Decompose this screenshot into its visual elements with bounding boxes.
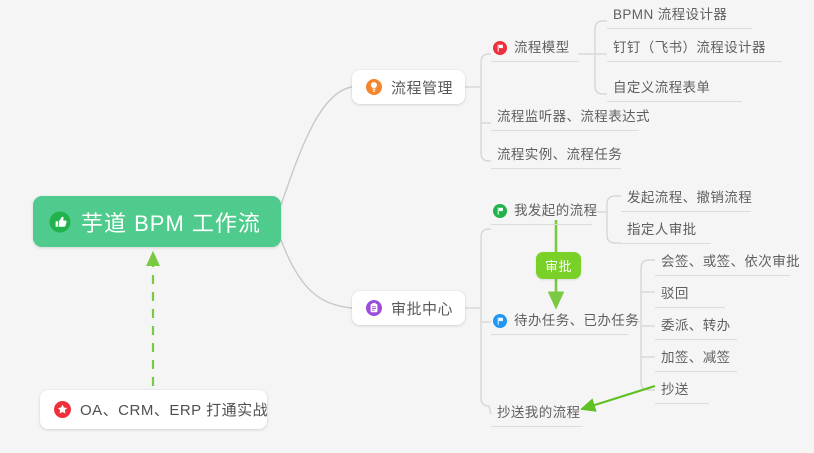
- node-my-initiated[interactable]: 我发起的流程: [491, 199, 592, 225]
- flag-green-icon: [493, 204, 507, 219]
- node-label: 抄送: [661, 378, 689, 398]
- root-node[interactable]: 芋道 BPM 工作流: [33, 196, 281, 247]
- node-process-instance[interactable]: 流程实例、流程任务: [491, 143, 621, 169]
- bottom-note-label: OA、CRM、ERP 打通实战: [80, 399, 268, 420]
- node-label: 驳回: [661, 282, 689, 302]
- mindmap-canvas: 芋道 BPM 工作流 流程管理 流程模型 BPMN 流程设计器 钉钉（飞书）流程: [0, 0, 814, 453]
- node-label: 自定义流程表单: [613, 76, 710, 96]
- node-label: 钉钉（飞书）流程设计器: [613, 36, 766, 56]
- node-label: 指定人审批: [627, 218, 697, 238]
- branch-label: 审批中心: [391, 298, 453, 319]
- bottom-note-card[interactable]: OA、CRM、ERP 打通实战: [40, 390, 267, 429]
- node-label: 我发起的流程: [514, 199, 597, 219]
- node-dingtalk-designer[interactable]: 钉钉（飞书）流程设计器: [607, 36, 782, 62]
- branch-node-process-management[interactable]: 流程管理: [352, 70, 465, 104]
- flag-blue-icon: [493, 314, 507, 329]
- node-label: 待办任务、已办任务: [514, 309, 639, 329]
- node-label: 抄送我的流程: [497, 401, 580, 421]
- node-process-model[interactable]: 流程模型: [491, 36, 579, 62]
- node-label: BPMN 流程设计器: [613, 3, 727, 23]
- node-add-remove-sign[interactable]: 加签、减签: [655, 346, 737, 372]
- node-label: 流程实例、流程任务: [497, 143, 622, 163]
- chip-label: 审批: [545, 259, 572, 274]
- star-icon: [54, 401, 71, 418]
- node-todo-done-tasks[interactable]: 待办任务、已办任务: [491, 309, 628, 335]
- node-start-cancel-process[interactable]: 发起流程、撤销流程: [621, 186, 751, 212]
- clipboard-icon: [366, 300, 382, 316]
- node-label: 委派、转办: [661, 314, 731, 334]
- node-custom-form[interactable]: 自定义流程表单: [607, 76, 742, 102]
- node-label: 流程监听器、流程表达式: [497, 105, 650, 125]
- node-label: 会签、或签、依次审批: [661, 250, 800, 270]
- lightbulb-icon: [366, 79, 382, 95]
- branch-node-approval-center[interactable]: 审批中心: [352, 291, 465, 325]
- root-label: 芋道 BPM 工作流: [81, 206, 261, 238]
- node-cc-to-me[interactable]: 抄送我的流程: [491, 401, 583, 427]
- node-cc[interactable]: 抄送: [655, 378, 709, 404]
- annotation-chip-approval[interactable]: 审批: [536, 252, 581, 279]
- node-delegate-transfer[interactable]: 委派、转办: [655, 314, 737, 340]
- node-bpmn-designer[interactable]: BPMN 流程设计器: [607, 3, 752, 29]
- flag-red-icon: [493, 41, 507, 56]
- branch-label: 流程管理: [391, 77, 453, 98]
- node-countersign[interactable]: 会签、或签、依次审批: [655, 250, 790, 276]
- node-designated-approver[interactable]: 指定人审批: [621, 218, 711, 244]
- node-label: 加签、减签: [661, 346, 731, 366]
- node-label: 发起流程、撤销流程: [627, 186, 752, 206]
- node-reject[interactable]: 驳回: [655, 282, 725, 308]
- thumbs-up-icon: [49, 211, 71, 233]
- node-process-listener[interactable]: 流程监听器、流程表达式: [491, 105, 639, 131]
- node-label: 流程模型: [514, 36, 570, 56]
